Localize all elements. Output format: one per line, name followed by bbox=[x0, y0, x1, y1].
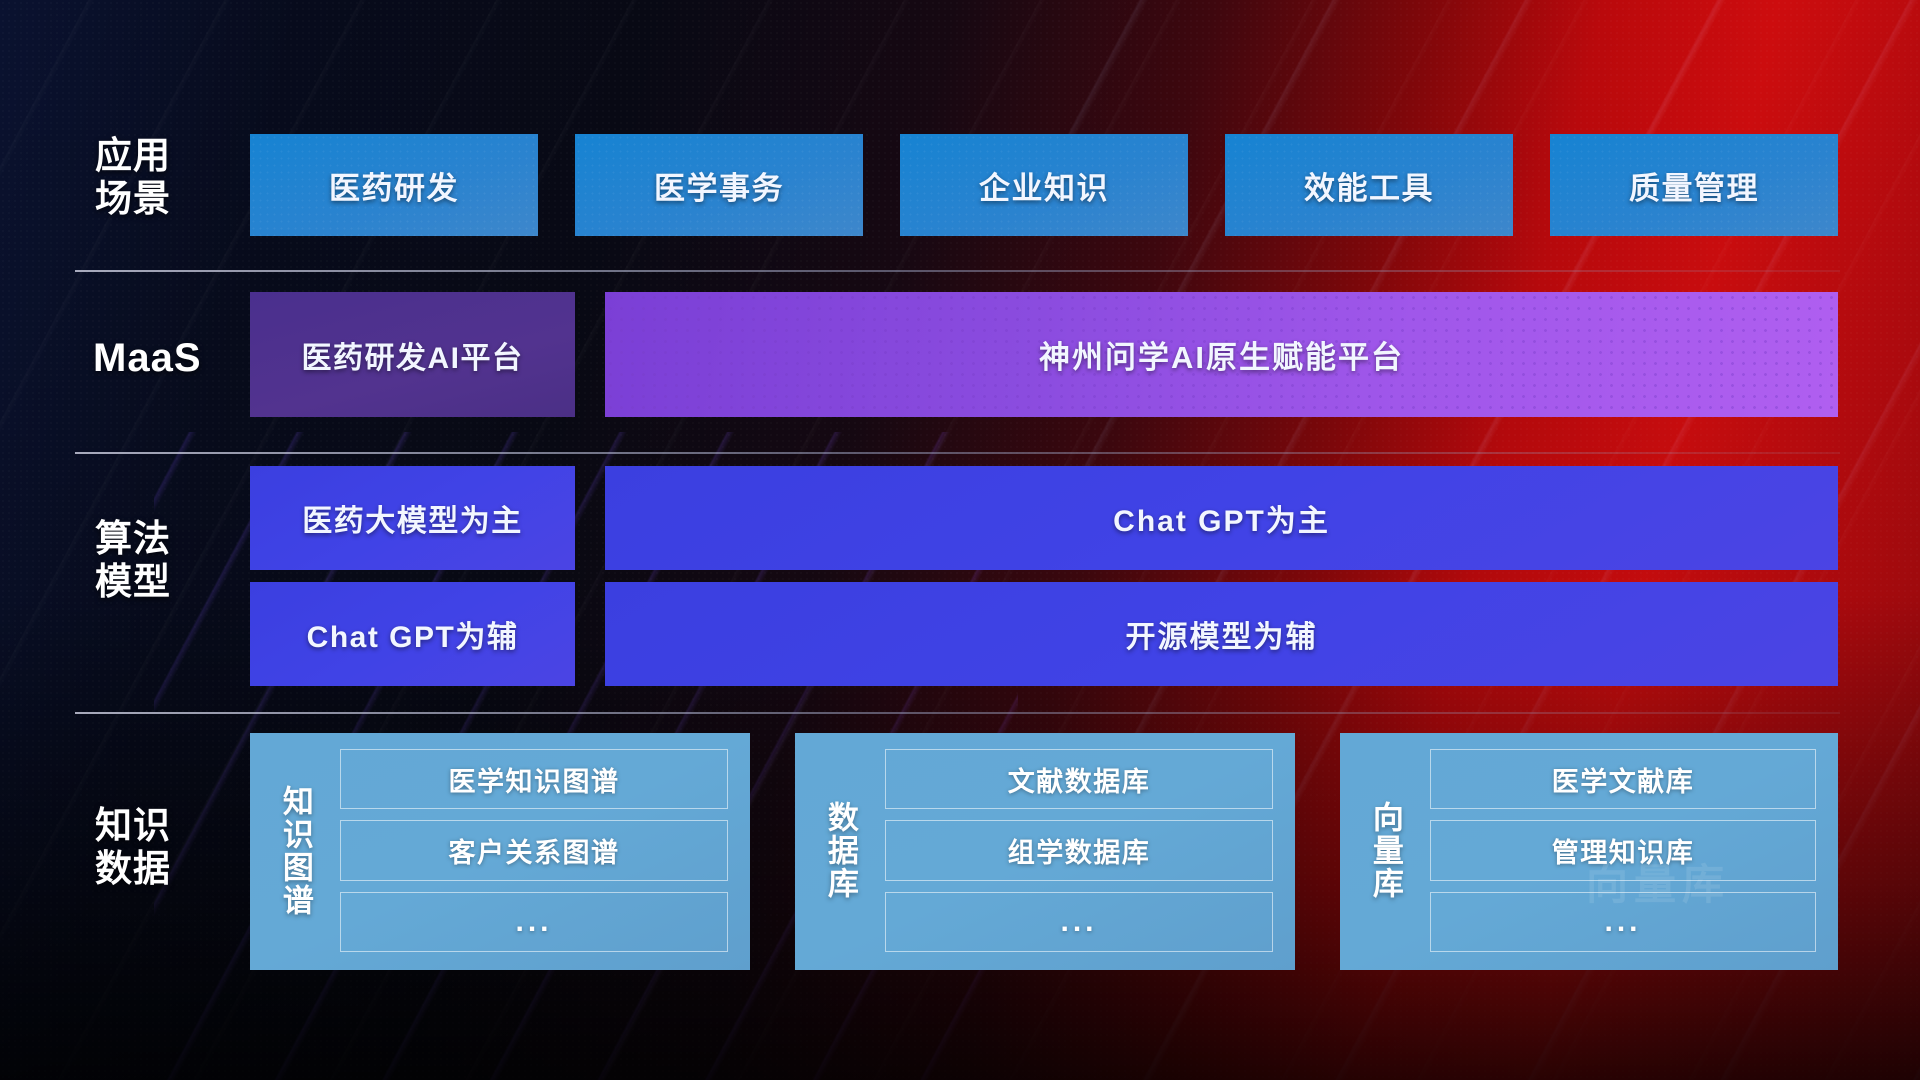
knowledge-item-more[interactable]: ... bbox=[885, 892, 1273, 952]
knowledge-panel-graph-title: 知识图谱 bbox=[262, 745, 328, 956]
algo-left-label-2: Chat GPT为辅 bbox=[307, 612, 519, 656]
app-scenario-box-2[interactable]: 医学事务 bbox=[575, 134, 863, 236]
algo-right-label-1: Chat GPT为主 bbox=[1113, 496, 1330, 540]
row-label-algorithm-model: 算法 模型 bbox=[95, 518, 245, 604]
row-label-application-scenarios: 应用 场景 bbox=[95, 135, 245, 221]
knowledge-panel-graph-items: 医学知识图谱 客户关系图谱 ... bbox=[340, 745, 736, 956]
maas-right-label: 神州问学AI原生赋能平台 bbox=[1039, 332, 1404, 377]
algo-box-left-1[interactable]: 医药大模型为主 bbox=[250, 466, 575, 570]
knowledge-item-more[interactable]: ... bbox=[340, 892, 728, 952]
algo-box-right-2[interactable]: 开源模型为辅 bbox=[605, 582, 1838, 686]
knowledge-item[interactable]: 组学数据库 bbox=[885, 820, 1273, 880]
app-scenario-box-3[interactable]: 企业知识 bbox=[900, 134, 1188, 236]
divider-3 bbox=[75, 712, 1840, 714]
knowledge-panel-database-title: 数据库 bbox=[807, 745, 873, 956]
app-scenario-box-1[interactable]: 医药研发 bbox=[250, 134, 538, 236]
maas-platform-box-left[interactable]: 医药研发AI平台 bbox=[250, 292, 575, 417]
app-scenario-label-5: 质量管理 bbox=[1629, 163, 1759, 208]
algo-left-label-1: 医药大模型为主 bbox=[302, 496, 523, 540]
algo-box-right-1[interactable]: Chat GPT为主 bbox=[605, 466, 1838, 570]
app-scenario-label-1: 医药研发 bbox=[329, 163, 459, 208]
knowledge-item[interactable]: 医学文献库 bbox=[1430, 749, 1816, 809]
app-scenario-label-4: 效能工具 bbox=[1304, 163, 1434, 208]
divider-2 bbox=[75, 452, 1840, 454]
slide-canvas: 应用 场景 医药研发 医学事务 企业知识 效能工具 质量管理 MaaS 医药研发… bbox=[0, 0, 1920, 1080]
row-label-knowledge-data: 知识 数据 bbox=[95, 805, 245, 891]
knowledge-panel-vector[interactable]: 向量库 医学文献库 管理知识库 ... 向量库 bbox=[1340, 733, 1838, 970]
knowledge-item[interactable]: 文献数据库 bbox=[885, 749, 1273, 809]
maas-platform-box-right[interactable]: 神州问学AI原生赋能平台 bbox=[605, 292, 1838, 417]
app-scenario-label-3: 企业知识 bbox=[979, 163, 1109, 208]
divider-1 bbox=[75, 270, 1840, 272]
knowledge-item[interactable]: 医学知识图谱 bbox=[340, 749, 728, 809]
knowledge-panel-graph[interactable]: 知识图谱 医学知识图谱 客户关系图谱 ... bbox=[250, 733, 750, 970]
knowledge-item[interactable]: 客户关系图谱 bbox=[340, 820, 728, 880]
knowledge-item-more[interactable]: ... bbox=[1430, 892, 1816, 952]
knowledge-panel-vector-items: 医学文献库 管理知识库 ... bbox=[1430, 745, 1824, 956]
app-scenario-box-4[interactable]: 效能工具 bbox=[1225, 134, 1513, 236]
knowledge-panel-vector-title: 向量库 bbox=[1352, 745, 1418, 956]
row-label-maas: MaaS bbox=[93, 335, 273, 381]
algo-right-label-2: 开源模型为辅 bbox=[1126, 612, 1318, 656]
algo-box-left-2[interactable]: Chat GPT为辅 bbox=[250, 582, 575, 686]
app-scenario-box-5[interactable]: 质量管理 bbox=[1550, 134, 1838, 236]
knowledge-panel-database[interactable]: 数据库 文献数据库 组学数据库 ... bbox=[795, 733, 1295, 970]
knowledge-panel-database-items: 文献数据库 组学数据库 ... bbox=[885, 745, 1281, 956]
app-scenario-label-2: 医学事务 bbox=[654, 163, 784, 208]
maas-left-label: 医药研发AI平台 bbox=[302, 333, 524, 377]
knowledge-item[interactable]: 管理知识库 bbox=[1430, 820, 1816, 880]
